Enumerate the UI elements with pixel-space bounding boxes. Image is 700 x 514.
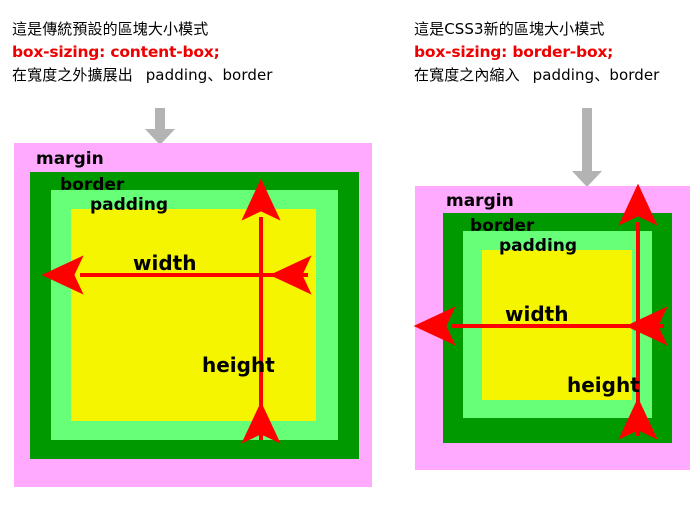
border-box-diagram: margin border padding width height (415, 186, 690, 470)
grey-down-arrow-right-icon (570, 108, 604, 187)
left-caption-line-1: 這是傳統預設的區塊大小模式 (12, 18, 273, 41)
left-caption-line-3-a: 在寬度之外擴展出 (12, 66, 133, 84)
right-caption-line-1: 這是CSS3新的區塊大小模式 (414, 18, 659, 41)
diagram-canvas: 這是傳統預設的區塊大小模式 box-sizing: content-box; 在… (0, 0, 700, 514)
padding-label-right: padding (499, 238, 577, 255)
right-caption-block: 這是CSS3新的區塊大小模式 box-sizing: border-box; 在… (414, 18, 659, 87)
content-box-diagram: margin border padding width height (14, 143, 372, 487)
left-caption-line-3: 在寬度之外擴展出 padding、border (12, 64, 273, 87)
left-caption-code: box-sizing: content-box; (12, 41, 273, 65)
right-caption-code: box-sizing: border-box; (414, 41, 659, 65)
grey-down-arrow-left-icon (143, 108, 177, 145)
padding-label-left: padding (90, 197, 168, 214)
left-caption-line-3-b: padding、border (146, 66, 273, 84)
left-caption-block: 這是傳統預設的區塊大小模式 box-sizing: content-box; 在… (12, 18, 273, 87)
width-label-right: width (505, 304, 568, 324)
border-label-left: border (60, 177, 124, 194)
right-caption-line-3-b: padding、border (533, 66, 660, 84)
content-layer-left (71, 209, 316, 421)
right-caption-line-3: 在寬度之內縮入 padding、border (414, 64, 659, 87)
height-label-left: height (202, 355, 275, 375)
margin-label-left: margin (36, 151, 104, 168)
height-label-right: height (567, 375, 640, 395)
width-label-left: width (133, 253, 196, 273)
margin-label-right: margin (446, 193, 514, 210)
right-caption-line-3-a: 在寬度之內縮入 (414, 66, 520, 84)
border-label-right: border (470, 218, 534, 235)
